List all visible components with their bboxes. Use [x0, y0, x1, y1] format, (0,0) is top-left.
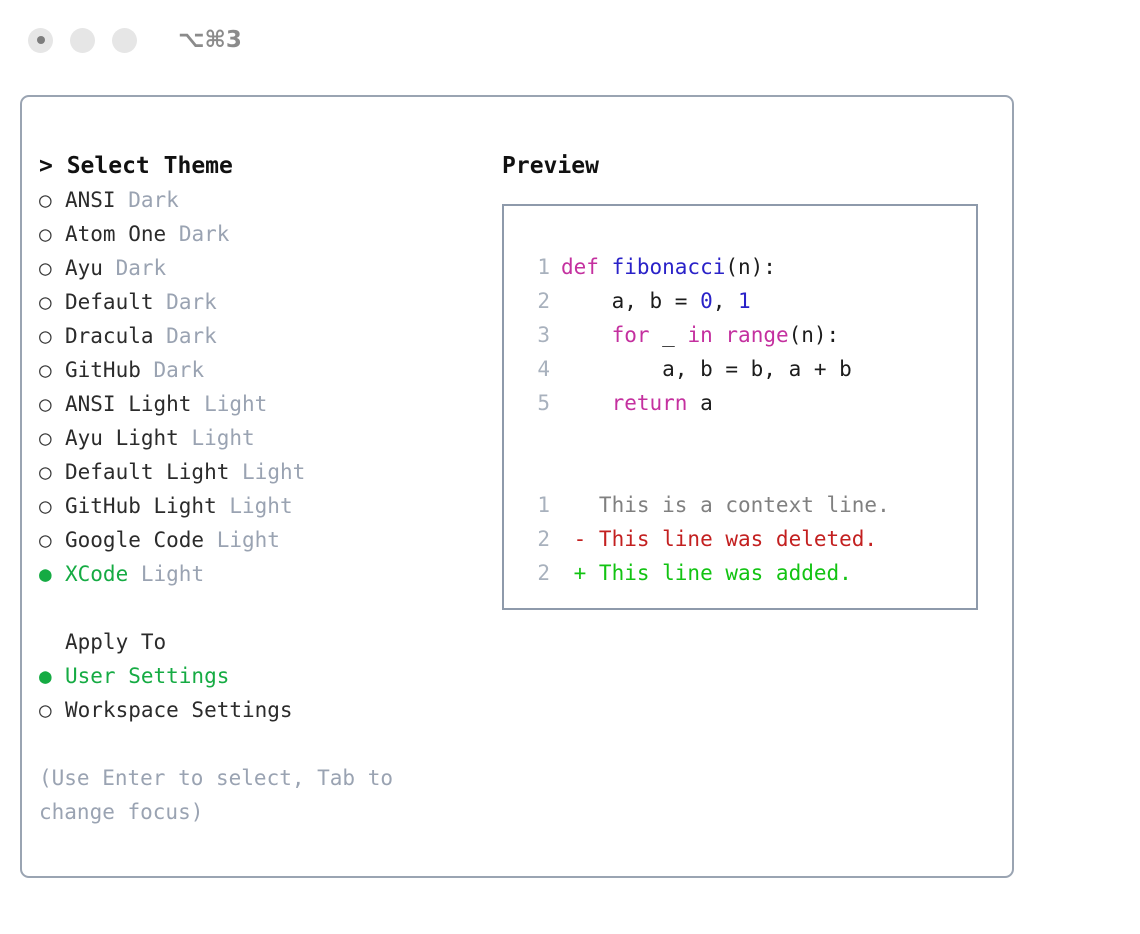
window-controls	[28, 28, 137, 53]
code-token-plain: ,	[713, 284, 738, 318]
radio-selected-icon: ●	[39, 557, 65, 591]
theme-option-label: ANSI Light	[65, 387, 191, 421]
radio-icon: ○	[39, 693, 65, 727]
theme-option-tag: Dark	[154, 319, 217, 353]
theme-option-label: Dracula	[65, 319, 154, 353]
apply-to-workspace-settings[interactable]: ○ Workspace Settings	[39, 693, 479, 727]
select-theme-heading: > Select Theme	[39, 149, 479, 183]
code-token-builtin: range	[725, 318, 788, 352]
code-line: 5 return a	[520, 386, 976, 420]
theme-option-tag: Light	[128, 557, 204, 591]
window-titlebar: ⌥⌘3	[0, 0, 1140, 80]
line-number: 1	[520, 250, 550, 284]
code-token-plain: a, b =	[561, 284, 700, 318]
theme-option-github-light[interactable]: ○ GitHub Light Light	[39, 489, 479, 523]
theme-option-tag: Dark	[141, 353, 204, 387]
panel-columns: > Select Theme ○ ANSI Dark ○ Atom One Da…	[22, 97, 1012, 876]
theme-option-ansi-dark[interactable]: ○ ANSI Dark	[39, 183, 479, 217]
apply-to-label: Apply To	[65, 625, 166, 659]
line-number: 5	[520, 386, 550, 420]
radio-selected-icon: ●	[39, 659, 65, 693]
theme-option-tag: Dark	[154, 285, 217, 319]
code-token-keyword: def	[561, 250, 612, 284]
window-dot-inner	[37, 36, 45, 44]
radio-icon: ○	[39, 319, 65, 353]
theme-option-ansi-light[interactable]: ○ ANSI Light Light	[39, 387, 479, 421]
apply-to-user-settings[interactable]: ● User Settings	[39, 659, 479, 693]
window-dot-third-icon[interactable]	[112, 28, 137, 53]
theme-option-label: Default	[65, 285, 154, 319]
theme-option-default-light[interactable]: ○ Default Light Light	[39, 455, 479, 489]
code-line: 4 a, b = b, a + b	[520, 352, 976, 386]
radio-icon: ○	[39, 285, 65, 319]
code-token-keyword: in	[687, 318, 712, 352]
window-dot-active-icon[interactable]	[28, 28, 53, 53]
theme-option-tag: Light	[204, 523, 280, 557]
keyboard-hint-text: (Use Enter to select, Tab to change focu…	[39, 761, 439, 829]
code-token-keyword: for	[612, 318, 650, 352]
theme-option-github-dark[interactable]: ○ GitHub Dark	[39, 353, 479, 387]
code-token-plain	[713, 318, 726, 352]
keyboard-shortcut-label: ⌥⌘3	[178, 27, 242, 53]
radio-icon: ○	[39, 183, 65, 217]
theme-option-tag: Dark	[103, 251, 166, 285]
code-token-plain: (n):	[789, 318, 840, 352]
diff-context-text: This is a context line.	[561, 488, 890, 522]
theme-option-label: GitHub	[65, 353, 141, 387]
list-spacer	[39, 591, 479, 625]
code-token-plain: a	[687, 386, 712, 420]
theme-option-label: Default Light	[65, 455, 229, 489]
theme-option-xcode-light[interactable]: ● XCode Light	[39, 557, 479, 591]
apply-to-heading: Apply To	[39, 625, 479, 659]
radio-icon: ○	[39, 217, 65, 251]
theme-option-tag: Light	[217, 489, 293, 523]
theme-option-label: GitHub Light	[65, 489, 217, 523]
code-token-number: 1	[738, 284, 751, 318]
radio-icon: ○	[39, 489, 65, 523]
theme-option-label: ANSI	[65, 183, 116, 217]
diff-line-context: 1 This is a context line.	[520, 488, 976, 522]
preview-heading: Preview	[502, 149, 992, 183]
line-number: 3	[520, 318, 550, 352]
code-token-plain: a, b = b, a + b	[561, 352, 852, 386]
theme-option-label: Ayu Light	[65, 421, 179, 455]
diff-added-text: + This line was added.	[561, 556, 852, 590]
theme-option-tag: Dark	[116, 183, 179, 217]
theme-option-label: Google Code	[65, 523, 204, 557]
theme-option-label: XCode	[65, 557, 128, 591]
theme-option-atom-one-dark[interactable]: ○ Atom One Dark	[39, 217, 479, 251]
code-line: 1 def fibonacci(n):	[520, 250, 976, 284]
theme-option-ayu-dark[interactable]: ○ Ayu Dark	[39, 251, 479, 285]
radio-icon: ○	[39, 387, 65, 421]
diff-deleted-text: - This line was deleted.	[561, 522, 877, 556]
code-line: 2 a, b = 0, 1	[520, 284, 976, 318]
code-token-function: fibonacci	[612, 250, 726, 284]
theme-option-default-dark[interactable]: ○ Default Dark	[39, 285, 479, 319]
theme-option-dracula-dark[interactable]: ○ Dracula Dark	[39, 319, 479, 353]
code-token-plain: _	[650, 318, 688, 352]
radio-icon: ○	[39, 353, 65, 387]
radio-icon: ○	[39, 251, 65, 285]
line-number: 1	[520, 488, 550, 522]
theme-option-label: Ayu	[65, 251, 103, 285]
theme-list-column: > Select Theme ○ ANSI Dark ○ Atom One Da…	[39, 149, 479, 829]
line-number: 2	[520, 284, 550, 318]
diff-line-deleted: 2 - This line was deleted.	[520, 522, 976, 556]
theme-option-tag: Light	[229, 455, 305, 489]
code-line: 3 for _ in range(n):	[520, 318, 976, 352]
theme-option-ayu-light[interactable]: ○ Ayu Light Light	[39, 421, 479, 455]
window-dot-second-icon[interactable]	[70, 28, 95, 53]
theme-option-google-code-light[interactable]: ○ Google Code Light	[39, 523, 479, 557]
code-token-plain	[561, 318, 612, 352]
radio-icon: ○	[39, 455, 65, 489]
line-number: 4	[520, 352, 550, 386]
code-token-plain	[561, 386, 612, 420]
apply-to-option-label: Workspace Settings	[65, 693, 293, 727]
theme-option-label: Atom One	[65, 217, 166, 251]
diff-line-added: 2 + This line was added.	[520, 556, 976, 590]
code-token-keyword: return	[612, 386, 688, 420]
radio-icon: ○	[39, 421, 65, 455]
theme-option-tag: Light	[191, 387, 267, 421]
line-number: 2	[520, 522, 550, 556]
radio-icon: ○	[39, 523, 65, 557]
code-token-number: 0	[700, 284, 713, 318]
preview-box: 1 def fibonacci(n): 2 a, b = 0, 1 3 for …	[502, 204, 978, 610]
theme-option-tag: Light	[179, 421, 255, 455]
preview-column: Preview 1 def fibonacci(n): 2 a, b = 0, …	[502, 149, 992, 610]
code-blank-line	[520, 420, 976, 454]
code-blank-line	[520, 454, 976, 488]
line-number: 2	[520, 556, 550, 590]
theme-option-tag: Dark	[166, 217, 229, 251]
code-token-plain: (n):	[725, 250, 776, 284]
apply-to-option-label: User Settings	[65, 659, 229, 693]
theme-selector-panel: > Select Theme ○ ANSI Dark ○ Atom One Da…	[20, 95, 1014, 878]
